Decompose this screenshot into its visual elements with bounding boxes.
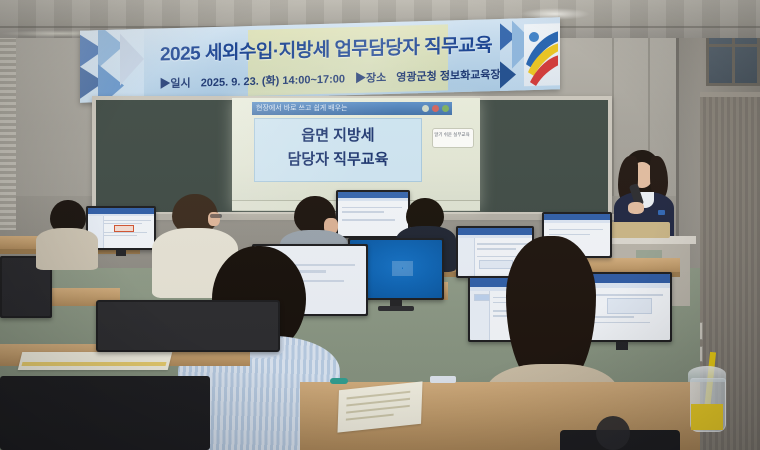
attendee-left-back-jacket bbox=[36, 228, 98, 270]
papers-left-desk bbox=[18, 352, 172, 370]
papers-left-desk-stripe bbox=[22, 362, 167, 366]
attendee-left-back bbox=[36, 200, 98, 260]
eyeglasses-icon bbox=[210, 214, 222, 218]
monitor-center-blue-base bbox=[378, 306, 414, 311]
photo-scene: 2025 세외수입·지방세 업무담당자 직무교육 ▶일시 2025. 9. 23… bbox=[0, 0, 760, 450]
highlight-box bbox=[114, 225, 133, 232]
cup-dome-lid bbox=[688, 366, 726, 382]
banner-glare bbox=[80, 17, 560, 102]
handout-document bbox=[337, 381, 422, 432]
window-blinds[interactable] bbox=[0, 30, 16, 230]
monitor-foreground-rearview[interactable] bbox=[0, 376, 210, 450]
monitor-front-right-b-stand bbox=[616, 342, 628, 350]
pen-icon[interactable] bbox=[330, 378, 348, 384]
wainscot-cap-rail bbox=[700, 92, 760, 97]
window-mullion-horizontal bbox=[706, 44, 760, 47]
chair-headrest bbox=[596, 416, 630, 450]
monitor-left-rear-stand bbox=[116, 250, 126, 256]
small-card bbox=[430, 376, 456, 383]
presenter-badge bbox=[658, 210, 665, 215]
event-banner: 2025 세외수입·지방세 업무담당자 직무교육 ▶일시 2025. 9. 23… bbox=[80, 17, 560, 102]
cup-label bbox=[691, 404, 723, 430]
presenter-hand bbox=[628, 202, 644, 214]
monitor-front-left-rearview[interactable] bbox=[96, 300, 280, 352]
